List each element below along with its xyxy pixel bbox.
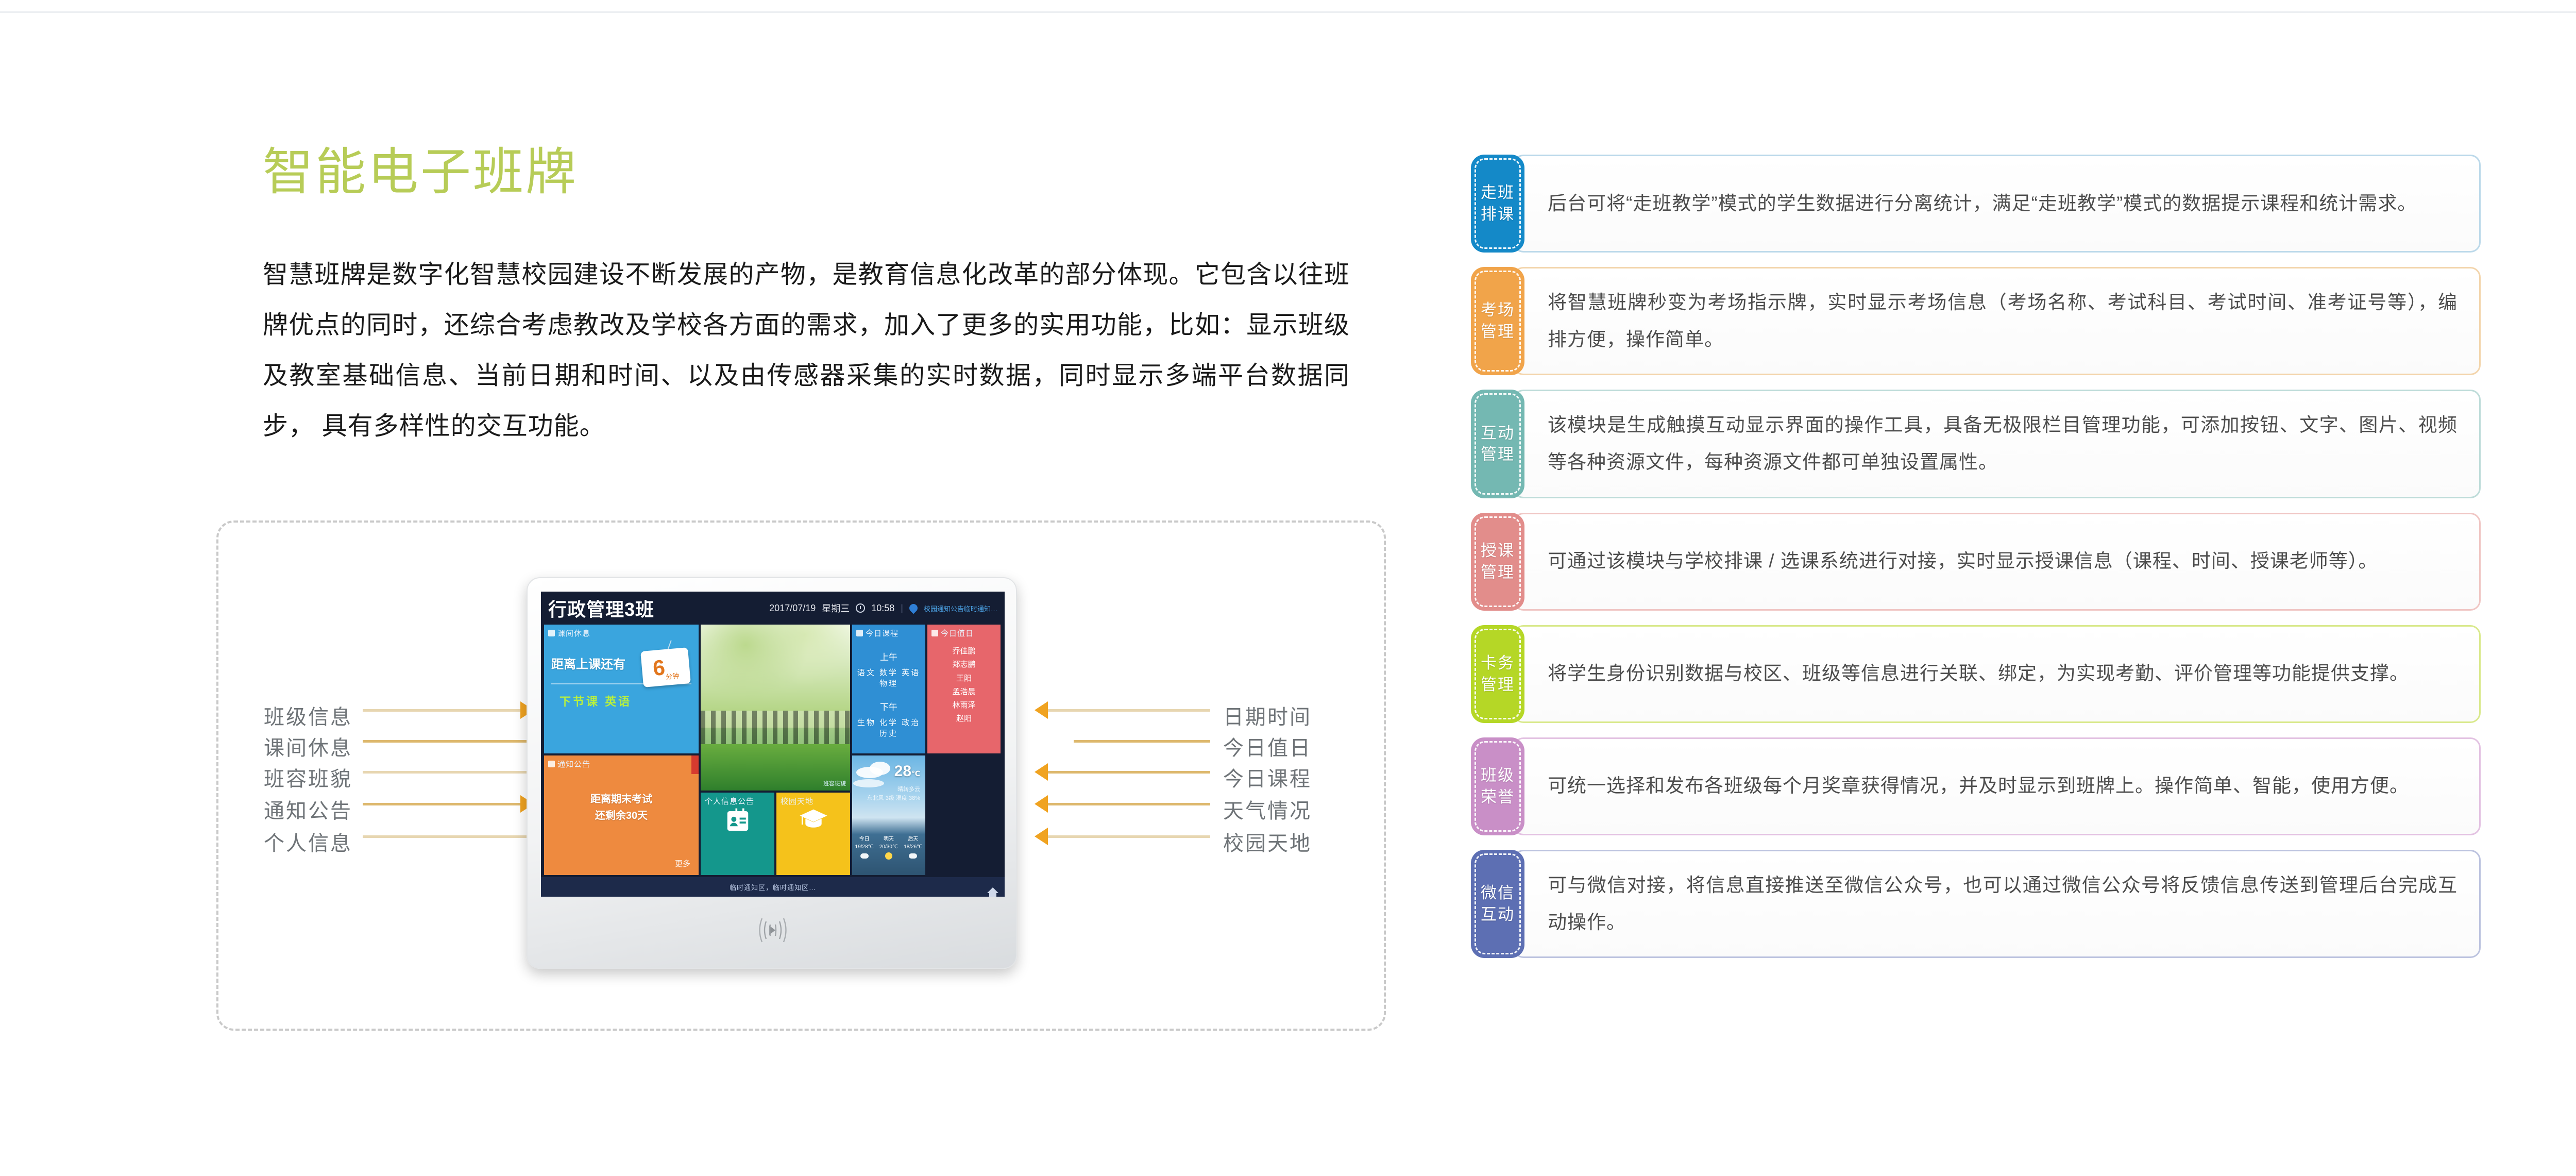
duty-name-1: 郑志鹏 xyxy=(927,658,1001,671)
tile-notice-title: 通知公告 xyxy=(557,759,590,769)
callout-label-right-4: 校园天地 xyxy=(1223,827,1378,856)
forecast-day-0-label: 今日 xyxy=(852,836,876,844)
forecast-day-2: 后天 18/26℃ xyxy=(901,836,925,860)
left-column: 智能电子班牌 智慧班牌是数字化智慧校园建设不断发展的产物，是教育信息化改革的部分… xyxy=(263,144,1396,451)
feature-card-2-text: 该模块是生成触摸互动显示界面的操作工具，具备无极限栏目管理功能，可添加按钮、文字… xyxy=(1548,407,2458,481)
screen-tile-grid: 课间休息 6 分钟 距离上课还有 下节课 英语 xyxy=(541,625,1005,877)
screen-footer: 临时通知区，临时通知区… xyxy=(541,877,1005,897)
tile-duty-header: 今日值日 xyxy=(927,625,1001,639)
feature-badge-3: 授课 管理 xyxy=(1471,513,1524,611)
feature-card-5-body: 可统一选择和发布各班级每个月奖章获得情况，并及时显示到班牌上。操作简单、智能，使… xyxy=(1513,737,2481,835)
tile-weather[interactable]: 28℃ 晴转多云 东北风 3级 湿度 38% 今日 19/28℃ xyxy=(852,755,925,875)
leader-line-left-3 xyxy=(363,803,522,805)
megaphone-icon xyxy=(548,761,555,767)
leader-line-left-4 xyxy=(363,835,540,838)
feature-badge-3-line1: 授课 xyxy=(1481,540,1515,562)
leader-line-right-3 xyxy=(1048,803,1210,805)
tile-campus-header: 校园天地 xyxy=(776,793,850,807)
feature-badge-2-line1: 互动 xyxy=(1481,423,1515,444)
callout-label-left-4: 个人信息 xyxy=(208,827,352,856)
tile-profile[interactable]: 个人信息公告 xyxy=(701,793,774,875)
notice-icon xyxy=(908,602,920,614)
forecast-day-0-range: 19/28℃ xyxy=(852,844,876,851)
meta-separator: | xyxy=(901,603,903,614)
notice-more-link[interactable]: 更多 xyxy=(675,858,690,869)
feature-badge-2-line2: 管理 xyxy=(1481,444,1515,465)
schedule-am-label: 上午 xyxy=(852,650,925,663)
tile-profile-title: 个人信息公告 xyxy=(705,796,754,807)
leader-arrow-right-3 xyxy=(1035,795,1048,813)
screen-weekday: 星期三 xyxy=(822,601,850,615)
countdown-number: 6 xyxy=(652,657,666,679)
tile-notice[interactable]: 通知公告 距离期末考试 还剩余30天 更多 xyxy=(544,755,699,875)
forecast-day-2-range: 18/26℃ xyxy=(901,844,925,851)
clock-icon xyxy=(856,603,865,613)
device-screen: 行政管理3班 2017/07/19 星期三 10:58 | 校园通知公告临时通知… xyxy=(541,592,1005,897)
callout-label-right-1: 今日值日 xyxy=(1223,731,1378,761)
leader-line-right-1 xyxy=(1074,740,1210,743)
leader-line-right-0 xyxy=(1048,709,1210,712)
leader-arrow-right-0 xyxy=(1035,701,1048,719)
duty-name-4: 林雨泽 xyxy=(927,699,1001,712)
next-class-row: 下节课 英语 xyxy=(544,693,699,709)
notice-flag-icon xyxy=(691,755,699,774)
tile-notice-header: 通知公告 xyxy=(544,755,699,769)
notice-line-2: 还剩余30天 xyxy=(544,808,699,824)
photo-people-layer xyxy=(701,711,850,747)
tile-break-title: 课间休息 xyxy=(557,628,590,639)
cloud-shape-2 xyxy=(870,762,890,775)
feature-card-6-text: 可与微信对接，将信息直接推送至微信公众号，也可以通过微信公众号将反馈信息传送到管… xyxy=(1548,867,2458,941)
tile-column-a: 课间休息 6 分钟 距离上课还有 下节课 英语 xyxy=(544,625,699,875)
forecast-day-1-label: 明天 xyxy=(876,836,901,844)
leader-line-right-2 xyxy=(1048,771,1210,774)
callout-label-left-3: 通知公告 xyxy=(208,794,352,824)
tile-profile-header: 个人信息公告 xyxy=(701,793,774,807)
tile-schedule-title: 今日课程 xyxy=(866,628,899,639)
feature-badge-0-line1: 走班 xyxy=(1481,182,1515,204)
callout-label-left-2: 班容班貌 xyxy=(208,762,352,792)
leader-line-right-4 xyxy=(1048,835,1210,838)
tile-schedule-header: 今日课程 xyxy=(852,625,925,639)
weather-detail: 晴转多云 东北风 3级 湿度 38% xyxy=(867,785,920,802)
tile-column-b: 班容班貌 个人信息公告 xyxy=(701,625,850,875)
feature-badge-6: 微信 互动 xyxy=(1471,850,1524,958)
leader-line-left-1 xyxy=(363,740,540,743)
feature-badge-3-line2: 管理 xyxy=(1481,562,1515,583)
feature-card-2[interactable]: 互动 管理 该模块是生成触摸互动显示界面的操作工具，具备无极限栏目管理功能，可添… xyxy=(1471,390,2481,498)
feature-card-4[interactable]: 卡务 管理 将学生身份识别数据与校区、班级等信息进行关联、绑定，为实现考勤、评价… xyxy=(1471,625,2481,723)
duty-name-2: 王阳 xyxy=(927,672,1001,685)
feature-badge-1-line2: 管理 xyxy=(1481,321,1515,343)
nfc-icon xyxy=(743,912,800,948)
feature-card-0-body: 后台可将“走班教学”模式的学生数据进行分离统计，满足“走班教学”模式的数据提示课… xyxy=(1513,155,2481,253)
leader-line-left-2 xyxy=(363,771,540,774)
callout-label-right-3: 天气情况 xyxy=(1223,794,1378,824)
countdown-sign: 6 分钟 xyxy=(640,647,691,687)
notice-line-1: 距离期末考试 xyxy=(544,791,699,808)
leader-arrow-right-4 xyxy=(1035,828,1048,845)
id-card-icon xyxy=(701,807,774,834)
duty-name-3: 孟浩晨 xyxy=(927,685,1001,699)
tile-break[interactable]: 课间休息 6 分钟 距离上课还有 下节课 英语 xyxy=(544,625,699,753)
forecast-day-1-range: 20/30℃ xyxy=(876,844,901,851)
feature-badge-4-line1: 卡务 xyxy=(1481,652,1515,674)
feature-card-5-text: 可统一选择和发布各班级每个月奖章获得情况，并及时显示到班牌上。操作简单、智能，使… xyxy=(1548,767,2409,804)
forecast-day-1: 明天 20/30℃ xyxy=(876,836,901,860)
weather-condition: 晴转多云 xyxy=(867,785,920,794)
callout-label-right-0: 日期时间 xyxy=(1223,700,1378,730)
feature-badge-0: 走班 排课 xyxy=(1471,155,1524,253)
duty-icon xyxy=(931,630,938,636)
screen-date: 2017/07/19 xyxy=(769,603,816,614)
screen-class-name: 行政管理3班 xyxy=(548,595,654,621)
feature-badge-0-line2: 排课 xyxy=(1481,204,1515,225)
weather-forecast: 今日 19/28℃ 明天 20/30℃ 后天 18/ xyxy=(852,836,925,860)
feature-card-4-body: 将学生身份识别数据与校区、班级等信息进行关联、绑定，为实现考勤、评价管理等功能提… xyxy=(1513,625,2481,723)
forecast-day-2-label: 后天 xyxy=(901,836,925,844)
next-class-subject: 英语 xyxy=(605,695,632,708)
feature-card-6[interactable]: 微信 互动 可与微信对接，将信息直接推送至微信公众号，也可以通过微信公众号将反馈… xyxy=(1471,850,2481,958)
feature-badge-6-line2: 互动 xyxy=(1481,904,1515,926)
feature-card-1[interactable]: 考场 管理 将智慧班牌秒变为考场指示牌，实时显示考场信息（考场名称、考试科目、考… xyxy=(1471,267,2481,375)
tile-duty[interactable]: 今日值日 乔佳鹏 郑志鹏 王阳 孟浩晨 林雨泽 赵阳 xyxy=(927,625,1001,753)
break-icon xyxy=(548,630,555,636)
callout-label-right-2: 今日课程 xyxy=(1223,762,1378,792)
feature-card-1-body: 将智慧班牌秒变为考场指示牌，实时显示考场信息（考场名称、考试科目、考试时间、准考… xyxy=(1513,267,2481,375)
countdown-unit: 分钟 xyxy=(665,670,680,681)
cloud-icon xyxy=(860,853,869,859)
feature-card-3-body: 可通过该模块与学校排课 / 选课系统进行对接，实时显示授课信息（课程、时间、授课… xyxy=(1513,513,2481,611)
photo-caption: 班容班貌 xyxy=(823,779,846,787)
schedule-pm-list: 生物 化学 政治 历史 xyxy=(852,717,925,738)
class-board-device: 行政管理3班 2017/07/19 星期三 10:58 | 校园通知公告临时通知… xyxy=(527,577,1017,969)
feature-card-3[interactable]: 授课 管理 可通过该模块与学校排课 / 选课系统进行对接，实时显示授课信息（课程… xyxy=(1471,513,2481,611)
tile-schedule[interactable]: 今日课程 上午 语文 数学 英语 物理 下午 生物 化学 政治 历史 xyxy=(852,625,925,753)
feature-card-2-body: 该模块是生成触摸互动显示界面的操作工具，具备无极限栏目管理功能，可添加按钮、文字… xyxy=(1513,390,2481,498)
graduation-cap-icon xyxy=(776,807,850,832)
feature-card-6-body: 可与微信对接，将信息直接推送至微信公众号，也可以通过微信公众号将反馈信息传送到管… xyxy=(1513,850,2481,958)
tile-subrow: 个人信息公告 xyxy=(701,793,850,875)
tile-break-header: 课间休息 xyxy=(544,625,699,639)
screen-notice-link[interactable]: 校园通知公告临时通知… xyxy=(924,603,997,613)
home-icon[interactable] xyxy=(987,887,998,893)
duty-name-5: 赵阳 xyxy=(927,712,1001,726)
feature-badge-5-line2: 荣誉 xyxy=(1481,786,1515,808)
tile-class-photo[interactable]: 班容班貌 xyxy=(701,625,850,791)
feature-badge-4-line2: 管理 xyxy=(1481,674,1515,696)
weather-temp-unit: ℃ xyxy=(911,769,920,778)
weather-temp-value: 28 xyxy=(894,763,911,780)
schedule-am-list: 语文 数学 英语 物理 xyxy=(852,667,925,688)
tile-column-c: 今日课程 上午 语文 数学 英语 物理 下午 生物 化学 政治 历史 28℃ xyxy=(852,625,925,875)
feature-badge-4: 卡务 管理 xyxy=(1471,625,1524,723)
feature-badge-1-line1: 考场 xyxy=(1481,299,1515,321)
screen-time: 10:58 xyxy=(871,603,894,614)
tile-campus-title: 校园天地 xyxy=(781,796,814,807)
callout-label-left-0: 班级信息 xyxy=(208,700,352,730)
screen-ticker: 临时通知区，临时通知区… xyxy=(730,882,816,892)
page-root: 智能电子班牌 智慧班牌是数字化智慧校园建设不断发展的产物，是教育信息化改革的部分… xyxy=(0,0,2576,1176)
calendar-icon xyxy=(856,630,863,636)
tile-column-d: 今日值日 乔佳鹏 郑志鹏 王阳 孟浩晨 林雨泽 赵阳 xyxy=(927,625,1001,875)
page-title: 智能电子班牌 xyxy=(263,144,1396,200)
duty-name-list: 乔佳鹏 郑志鹏 王阳 孟浩晨 林雨泽 赵阳 xyxy=(927,645,1001,726)
feature-card-list: 走班 排课 后台可将“走班教学”模式的学生数据进行分离统计，满足“走班教学”模式… xyxy=(1471,155,2481,972)
feature-badge-2: 互动 管理 xyxy=(1471,390,1524,498)
schedule-pm-label: 下午 xyxy=(852,700,925,713)
feature-badge-1: 考场 管理 xyxy=(1471,267,1524,375)
feature-card-1-text: 将智慧班牌秒变为考场指示牌，实时显示考场信息（考场名称、考试科目、考试时间、准考… xyxy=(1548,284,2458,358)
cloud-icon-2 xyxy=(909,853,917,859)
callout-label-left-1: 课间休息 xyxy=(208,731,352,761)
next-class-label: 下节课 xyxy=(560,695,600,708)
tile-spacer xyxy=(927,755,1001,875)
forecast-day-0: 今日 19/28℃ xyxy=(852,836,876,860)
top-divider xyxy=(0,11,2576,13)
tile-campus[interactable]: 校园天地 xyxy=(776,793,850,875)
feature-card-4-text: 将学生身份识别数据与校区、班级等信息进行关联、绑定，为实现考勤、评价管理等功能提… xyxy=(1548,655,2409,692)
feature-badge-6-line1: 微信 xyxy=(1481,882,1515,904)
sun-icon xyxy=(885,852,892,860)
feature-card-0[interactable]: 走班 排课 后台可将“走班教学”模式的学生数据进行分离统计，满足“走班教学”模式… xyxy=(1471,155,2481,253)
feature-card-5[interactable]: 班级 荣誉 可统一选择和发布各班级每个月奖章获得情况，并及时显示到班牌上。操作简… xyxy=(1471,737,2481,835)
weather-temperature: 28℃ xyxy=(894,763,920,780)
leader-arrow-right-2 xyxy=(1035,763,1048,781)
tile-duty-title: 今日值日 xyxy=(941,628,974,639)
feature-badge-5: 班级 荣誉 xyxy=(1471,737,1524,835)
feature-badge-5-line1: 班级 xyxy=(1481,765,1515,786)
screen-header: 行政管理3班 2017/07/19 星期三 10:58 | 校园通知公告临时通知… xyxy=(541,592,1005,625)
duty-name-0: 乔佳鹏 xyxy=(927,645,1001,658)
weather-extra: 东北风 3级 湿度 38% xyxy=(867,794,920,803)
feature-card-0-text: 后台可将“走班教学”模式的学生数据进行分离统计，满足“走班教学”模式的数据提示课… xyxy=(1548,185,2417,222)
screen-meta: 2017/07/19 星期三 10:58 | 校园通知公告临时通知… xyxy=(769,601,997,615)
intro-paragraph: 智慧班牌是数字化智慧校园建设不断发展的产物，是教育信息化改革的部分体现。它包含以… xyxy=(263,249,1350,451)
feature-card-3-text: 可通过该模块与学校排课 / 选课系统进行对接，实时显示授课信息（课程、时间、授课… xyxy=(1548,543,2378,580)
notice-body: 距离期末考试 还剩余30天 xyxy=(544,791,699,824)
leader-line-left-0 xyxy=(363,709,522,712)
